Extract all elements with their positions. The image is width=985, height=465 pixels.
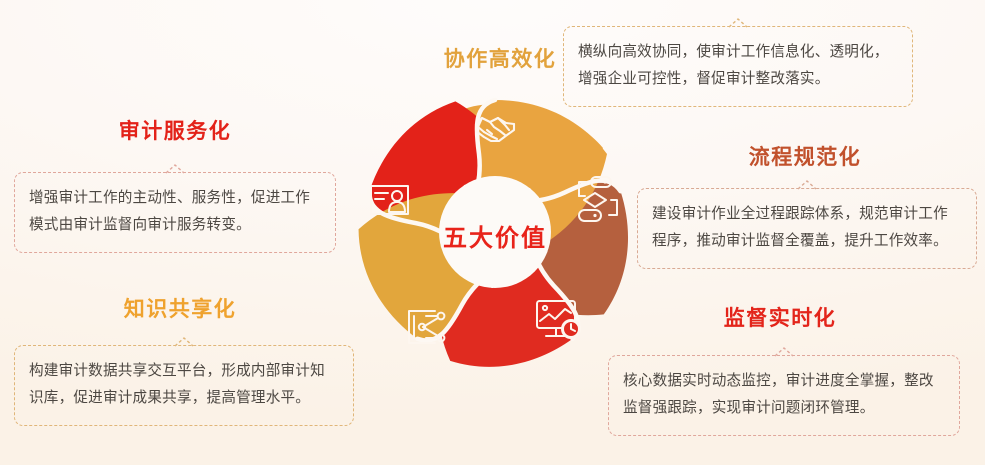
center-label: 五大价值 <box>345 218 645 253</box>
section-title-collab: 协作高效化 <box>420 48 580 71</box>
bubble-notch <box>794 180 820 190</box>
section-title-monitor: 监督实时化 <box>660 307 900 330</box>
bubble-notch <box>725 18 751 28</box>
section-body-service: 增强审计工作的主动性、服务性，促进工作模式由审计监督向审计服务转变。 <box>14 172 336 253</box>
description-bubble: 构建审计数据共享交互平台，形成内部审计知识库，促进审计成果共享，提高管理水平。 <box>14 345 354 426</box>
infographic-canvas: 五大价值 协作高效化 横纵向高效协同，使审计工作信息化、透明化，增强企业可控性，… <box>0 0 985 465</box>
body-text: 核心数据实时动态监控，审计进度全掌握，整改监督强跟踪，实现审计问题闭环管理。 <box>623 373 934 416</box>
bubble-notch <box>171 337 197 347</box>
section-body-collab: 横纵向高效协同，使审计工作信息化、透明化，增强企业可控性，督促审计整改落实。 <box>563 26 913 107</box>
body-text: 建设审计作业全过程跟踪体系，规范审计工作程序，推动审计监督全覆盖，提升工作效率。 <box>652 206 948 249</box>
description-bubble: 建设审计作业全过程跟踪体系，规范审计工作程序，推动审计监督全覆盖，提升工作效率。 <box>637 188 977 269</box>
section-title-process: 流程规范化 <box>690 146 920 169</box>
description-bubble: 核心数据实时动态监控，审计进度全掌握，整改监督强跟踪，实现审计问题闭环管理。 <box>608 355 960 436</box>
section-body-monitor: 核心数据实时动态监控，审计进度全掌握，整改监督强跟踪，实现审计问题闭环管理。 <box>608 355 960 436</box>
description-bubble: 横纵向高效协同，使审计工作信息化、透明化，增强企业可控性，督促审计整改落实。 <box>563 26 913 107</box>
section-body-process: 建设审计作业全过程跟踪体系，规范审计工作程序，推动审计监督全覆盖，提升工作效率。 <box>637 188 977 269</box>
body-text: 横纵向高效协同，使审计工作信息化、透明化，增强企业可控性，督促审计整改落实。 <box>578 44 889 87</box>
section-body-knowledge: 构建审计数据共享交互平台，形成内部审计知识库，促进审计成果共享，提高管理水平。 <box>14 345 354 426</box>
section-title-knowledge: 知识共享化 <box>60 298 300 321</box>
description-bubble: 增强审计工作的主动性、服务性，促进工作模式由审计监督向审计服务转变。 <box>14 172 336 253</box>
section-title-service: 审计服务化 <box>55 120 295 143</box>
body-text: 增强审计工作的主动性、服务性，促进工作模式由审计监督向审计服务转变。 <box>29 190 310 233</box>
bubble-notch <box>162 164 188 174</box>
bubble-notch <box>771 347 797 357</box>
body-text: 构建审计数据共享交互平台，形成内部审计知识库，促进审计成果共享，提高管理水平。 <box>29 363 325 406</box>
